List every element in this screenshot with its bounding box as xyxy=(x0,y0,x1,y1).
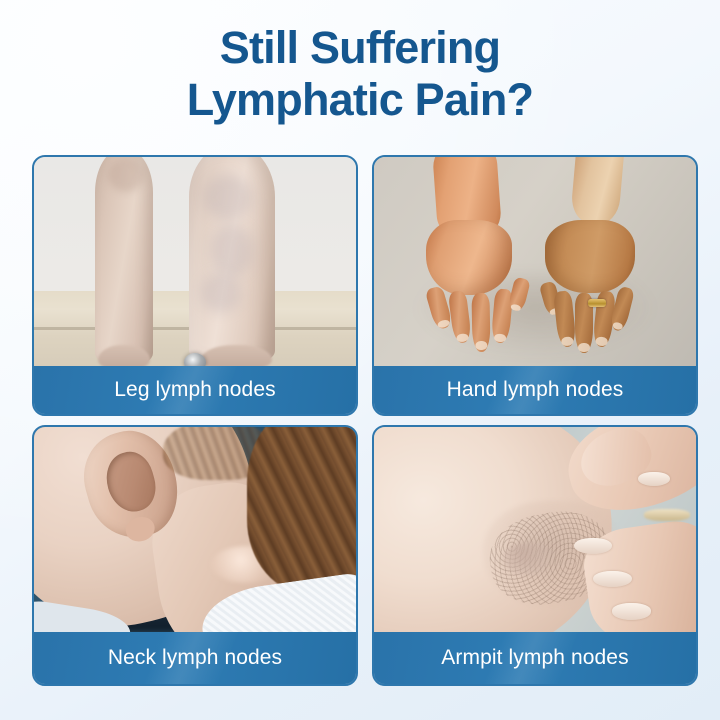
metal-glint xyxy=(644,509,689,521)
title-line-1: Still Suffering xyxy=(0,22,720,74)
right-foot xyxy=(201,345,272,366)
photo-armpit-lymph-nodes xyxy=(374,427,696,632)
card-neck-lymph-nodes[interactable]: Neck lymph nodes xyxy=(32,425,358,686)
finger xyxy=(472,293,491,352)
caption-armpit: Armpit lymph nodes xyxy=(374,632,696,684)
fingernail xyxy=(593,571,632,587)
fingernail xyxy=(612,603,651,619)
skin-blotch xyxy=(204,175,252,219)
card-hand-lymph-nodes[interactable]: Hand lymph nodes xyxy=(372,155,698,416)
photo-hand-lymph-nodes xyxy=(374,157,696,366)
caption-hand: Hand lymph nodes xyxy=(374,366,696,414)
photo-neck-lymph-nodes xyxy=(34,427,356,632)
lymph-node-card-grid: Leg lymph nodes Hand lymph nodes xyxy=(32,155,698,686)
page-title: Still Suffering Lymphatic Pain? xyxy=(0,0,720,126)
title-line-2: Lymphatic Pain? xyxy=(0,74,720,126)
card-leg-lymph-nodes[interactable]: Leg lymph nodes xyxy=(32,155,358,416)
floor-drain xyxy=(184,353,207,366)
right-hand-normal xyxy=(545,220,635,293)
gold-ring xyxy=(588,299,606,307)
ear-inner xyxy=(99,447,161,517)
skin-blotch xyxy=(201,273,241,313)
right-leg-swollen xyxy=(189,157,276,366)
knee-shading xyxy=(108,157,144,192)
photo-leg-lymph-nodes xyxy=(34,157,356,366)
right-forearm-normal xyxy=(570,157,626,226)
left-foot xyxy=(98,345,150,366)
caption-neck: Neck lymph nodes xyxy=(34,632,356,684)
left-leg-normal xyxy=(95,157,153,366)
left-hand-swollen xyxy=(426,220,513,295)
card-armpit-lymph-nodes[interactable]: Armpit lymph nodes xyxy=(372,425,698,686)
skin-blotch xyxy=(211,224,253,277)
swollen-lymph-node xyxy=(503,542,555,575)
caption-leg: Leg lymph nodes xyxy=(34,366,356,414)
curly-hair xyxy=(247,427,356,595)
